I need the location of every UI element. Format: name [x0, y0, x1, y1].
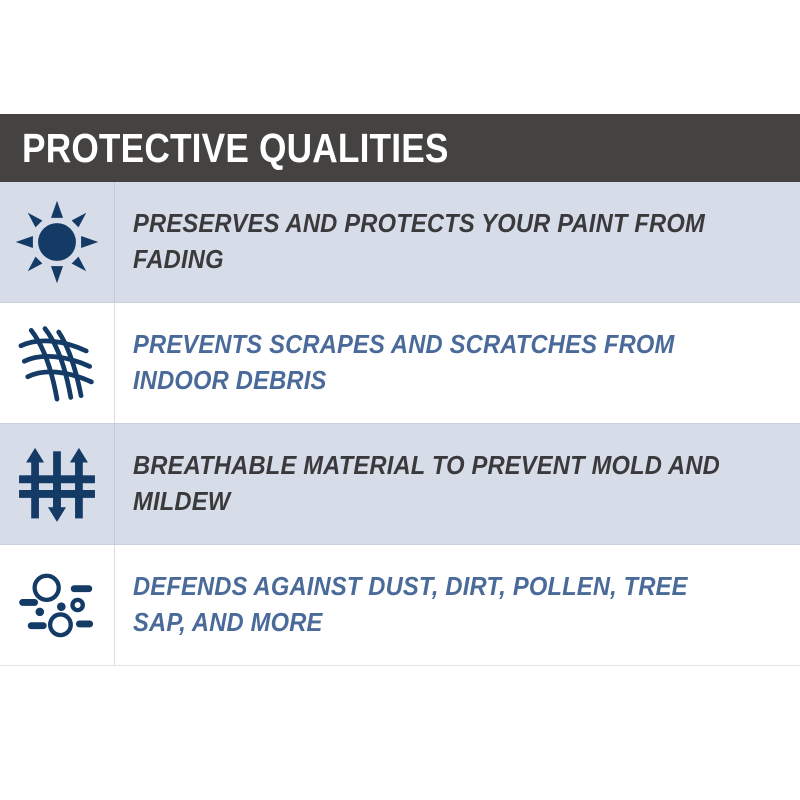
- row-text-cell: DEFENDS AGAINST DUST, DIRT, POLLEN, TREE…: [115, 545, 800, 665]
- feature-label: BREATHABLE MATERIAL TO PREVENT MOLD AND …: [133, 448, 725, 520]
- row-text-cell: BREATHABLE MATERIAL TO PREVENT MOLD AND …: [115, 424, 800, 544]
- sun-icon: [14, 196, 100, 288]
- table-row: PREVENTS SCRAPES AND SCRATCHES FROM INDO…: [0, 303, 800, 424]
- breathable-airflow-arrows-icon: [14, 438, 100, 530]
- row-text-cell: PREVENTS SCRAPES AND SCRATCHES FROM INDO…: [115, 303, 800, 423]
- row-icon-cell: [0, 424, 115, 544]
- table-row: BREATHABLE MATERIAL TO PREVENT MOLD AND …: [0, 424, 800, 545]
- page-title: PROTECTIVE QUALITIES: [22, 128, 449, 169]
- row-icon-cell: [0, 303, 115, 423]
- table-row: PRESERVES AND PROTECTS YOUR PAINT FROM F…: [0, 182, 800, 303]
- feature-row-list: PRESERVES AND PROTECTS YOUR PAINT FROM F…: [0, 182, 800, 666]
- feature-label: PREVENTS SCRAPES AND SCRATCHES FROM INDO…: [133, 327, 725, 399]
- protective-qualities-infographic: PROTECTIVE QUALITIES: [0, 0, 800, 800]
- row-icon-cell: [0, 182, 115, 302]
- panel-header: PROTECTIVE QUALITIES: [0, 114, 800, 182]
- woven-mesh-scratch-icon: [14, 317, 100, 409]
- feature-label: DEFENDS AGAINST DUST, DIRT, POLLEN, TREE…: [133, 569, 725, 641]
- feature-table-panel: PROTECTIVE QUALITIES: [0, 114, 800, 666]
- dust-particles-icon: [14, 559, 100, 651]
- feature-label: PRESERVES AND PROTECTS YOUR PAINT FROM F…: [133, 206, 725, 278]
- row-text-cell: PRESERVES AND PROTECTS YOUR PAINT FROM F…: [115, 182, 800, 302]
- row-icon-cell: [0, 545, 115, 665]
- table-row: DEFENDS AGAINST DUST, DIRT, POLLEN, TREE…: [0, 545, 800, 666]
